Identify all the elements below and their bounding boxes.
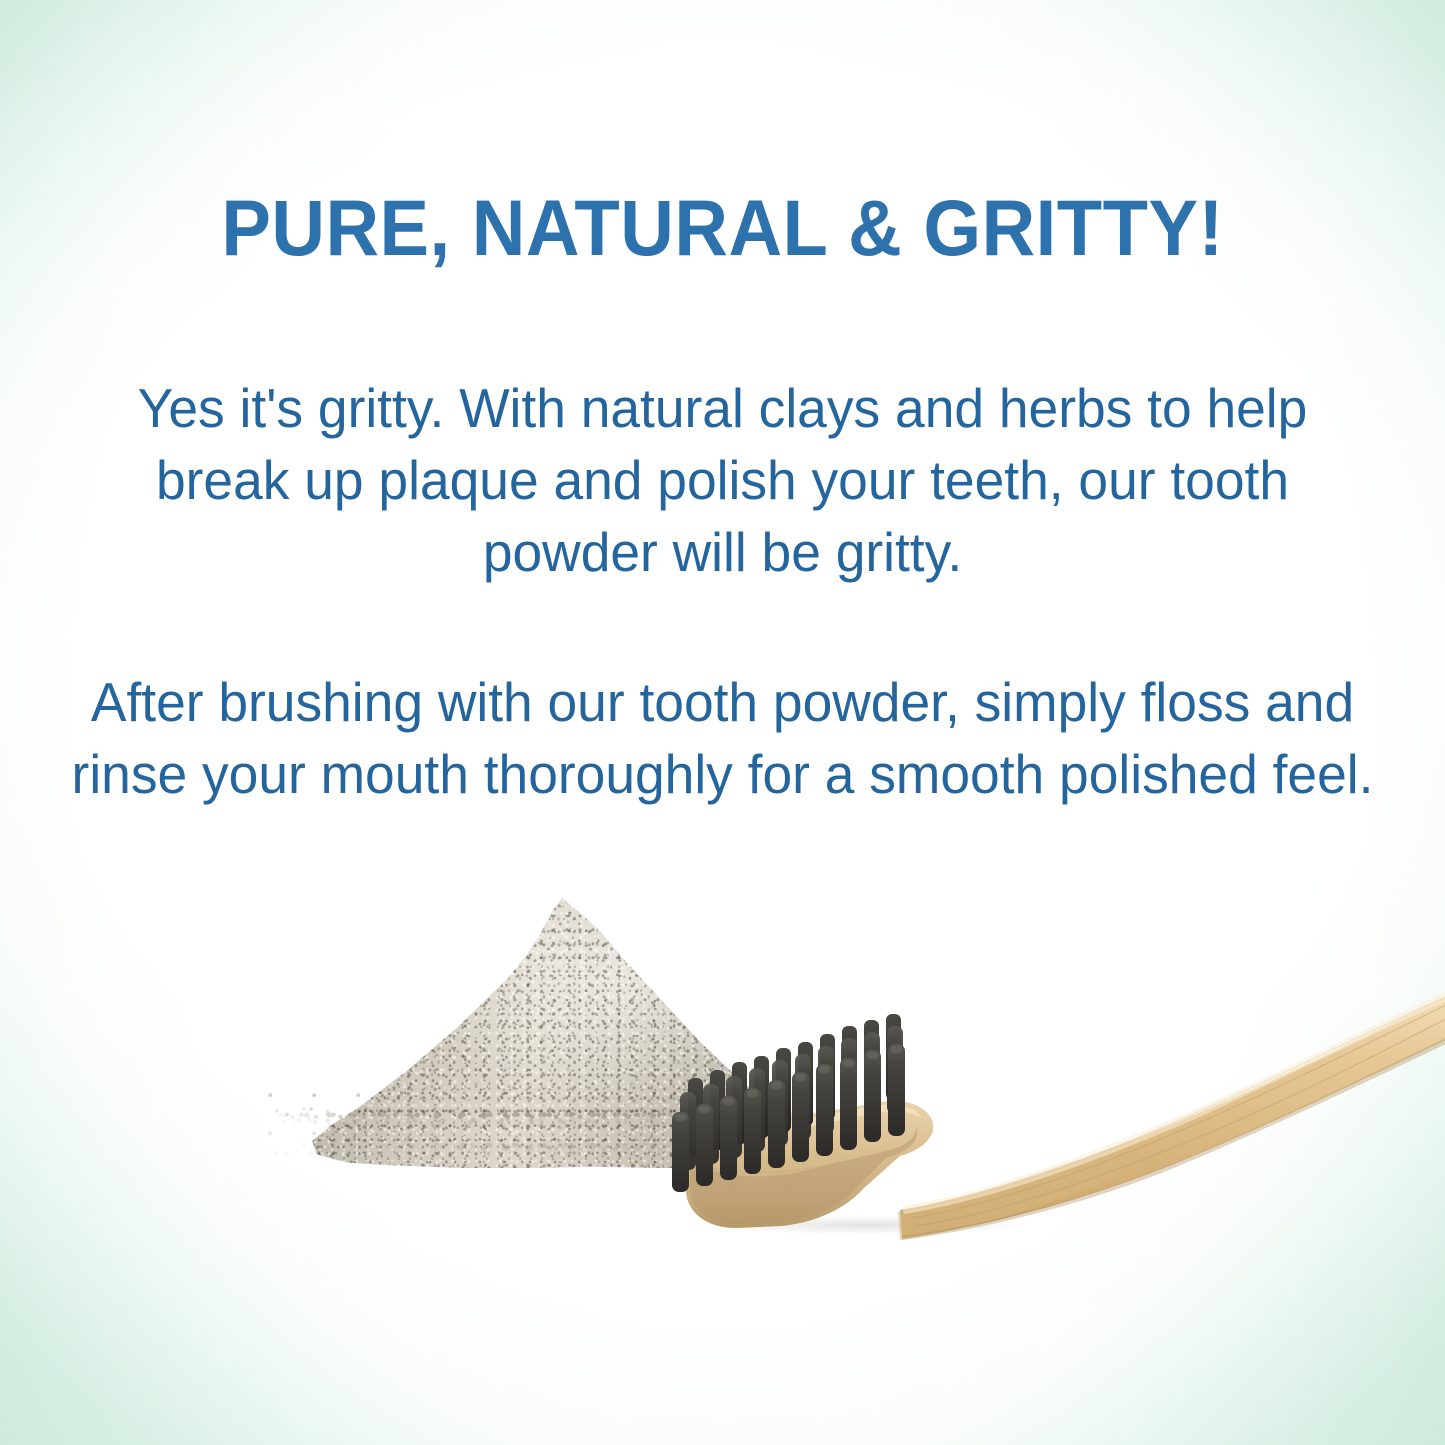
toothbrush-illustration (650, 960, 1445, 1250)
infographic-canvas: PURE, NATURAL & GRITTY! Yes it's gritty.… (0, 0, 1445, 1445)
paragraph-gritty-explanation: Yes it's gritty. With natural clays and … (70, 372, 1375, 588)
body-copy: Yes it's gritty. With natural clays and … (50, 372, 1395, 810)
page-title: PURE, NATURAL & GRITTY! (43, 188, 1401, 267)
bamboo-toothbrush (650, 960, 1445, 1250)
bamboo-handle (898, 990, 1445, 1240)
paragraph-usage-instructions: After brushing with our tooth powder, si… (70, 666, 1375, 810)
